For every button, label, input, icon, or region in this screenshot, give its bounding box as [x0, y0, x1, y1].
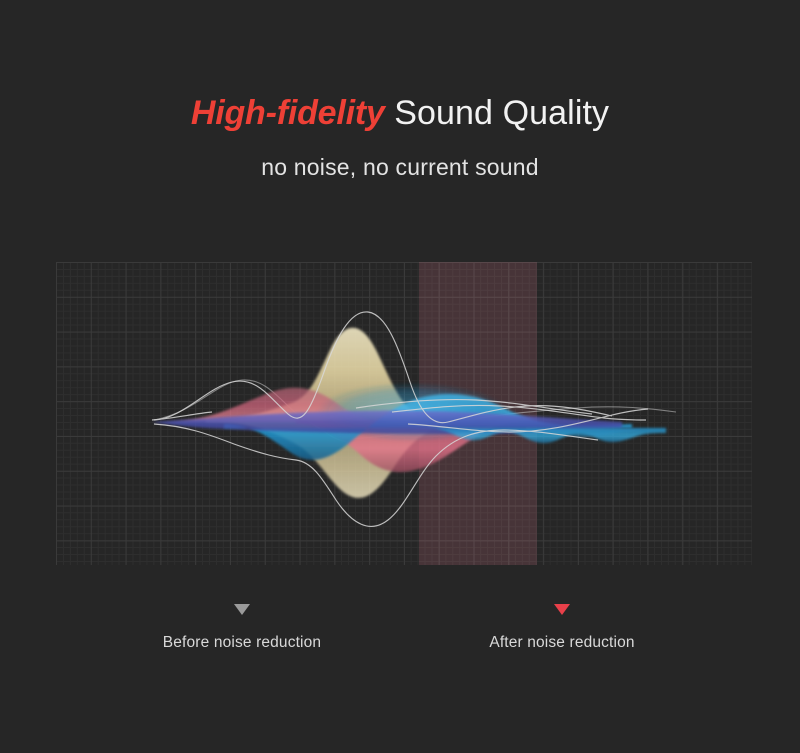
waveform-layers: [56, 262, 752, 565]
page-title-accent: High-fidelity: [191, 94, 385, 132]
legend-label-before: Before noise reduction: [92, 634, 392, 653]
waveform-chart: [56, 262, 752, 565]
promo-page: High-fidelity Sound Quality no noise, no…: [0, 0, 800, 753]
triangle-down-icon-before: [234, 604, 250, 615]
page-title: High-fidelity Sound Quality: [0, 96, 800, 130]
triangle-down-icon-after: [554, 604, 570, 615]
legend-label-after: After noise reduction: [412, 634, 712, 653]
page-subtitle-wrap: no noise, no current sound: [0, 156, 800, 179]
page-subtitle: no noise, no current sound: [261, 154, 539, 180]
page-title-rest: Sound Quality: [385, 94, 609, 132]
